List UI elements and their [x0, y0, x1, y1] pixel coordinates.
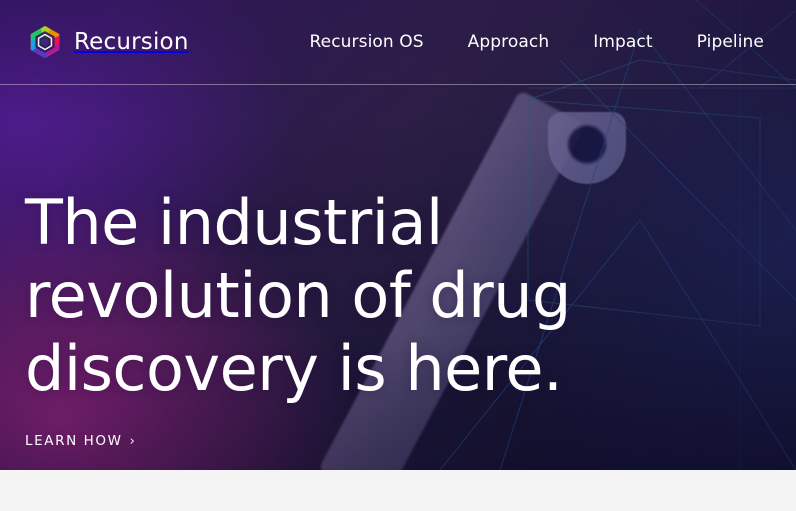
nav-item-approach[interactable]: Approach	[468, 32, 550, 52]
brand-logo-link[interactable]: Recursion	[28, 25, 189, 59]
headline-line-1: The industrial	[25, 186, 725, 259]
primary-navigation: Recursion OS Approach Impact Pipeline	[310, 32, 772, 52]
learn-how-link[interactable]: LEARN HOW ›	[25, 433, 136, 449]
hero-copy: The industrial revolution of drug discov…	[25, 186, 725, 450]
nav-item-recursion-os[interactable]: Recursion OS	[310, 32, 424, 52]
recursion-hex-logo-icon	[28, 25, 62, 59]
nav-item-impact[interactable]: Impact	[593, 32, 652, 52]
page-content-below-hero	[0, 470, 796, 511]
site-header: Recursion Recursion OS Approach Impact P…	[0, 0, 796, 85]
nav-item-pipeline[interactable]: Pipeline	[697, 32, 764, 52]
headline-line-3: discovery is here.	[25, 332, 725, 405]
hero-section: Recursion Recursion OS Approach Impact P…	[0, 0, 796, 470]
chevron-right-icon: ›	[130, 434, 137, 449]
brand-name: Recursion	[74, 29, 189, 55]
learn-how-label: LEARN HOW	[25, 433, 123, 449]
hero-headline: The industrial revolution of drug discov…	[25, 186, 725, 405]
headline-line-2: revolution of drug	[25, 259, 725, 332]
